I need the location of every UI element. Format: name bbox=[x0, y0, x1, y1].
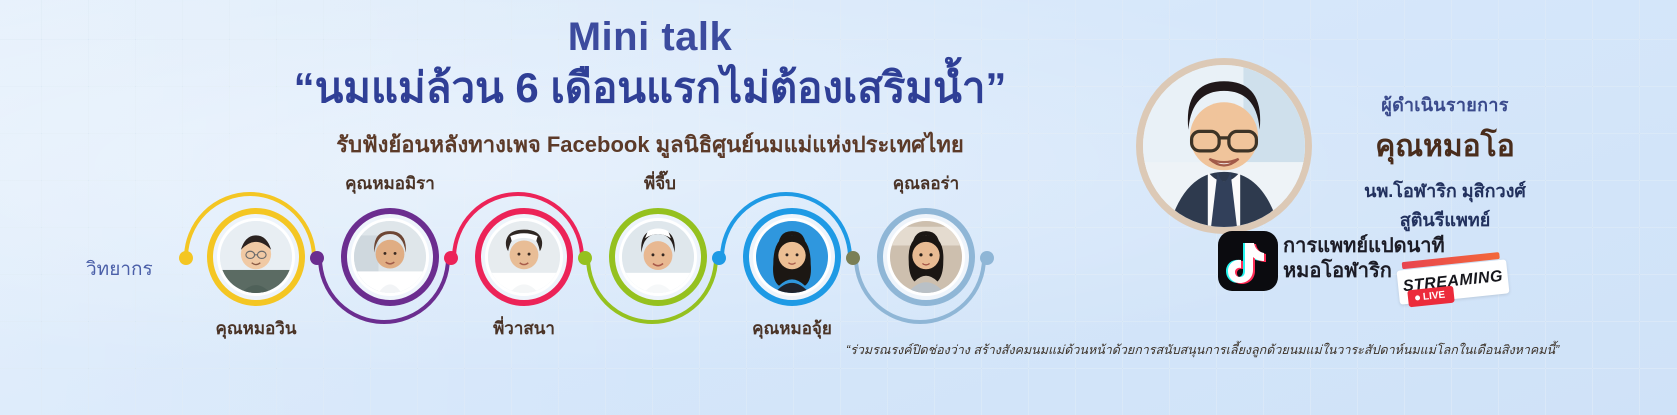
speaker-photo-6 bbox=[890, 221, 962, 293]
speaker-photo-5 bbox=[756, 221, 828, 293]
live-badge-label: LIVE bbox=[1422, 290, 1445, 303]
speaker-avatar-2[interactable] bbox=[341, 208, 439, 306]
speaker-avatar-5[interactable] bbox=[743, 208, 841, 306]
speaker-name-3: พี่วาสนา bbox=[464, 315, 584, 342]
speaker-name-6: คุณลอร่า bbox=[866, 170, 986, 197]
speaker-photo-1 bbox=[220, 221, 292, 293]
headline-block: Mini talk “นมแม่ล้วน 6 เดือนแรกไม่ต้องเส… bbox=[150, 16, 1150, 162]
speaker-photo-2 bbox=[354, 221, 426, 293]
speaker-avatar-6[interactable] bbox=[877, 208, 975, 306]
tiktok-icon[interactable] bbox=[1218, 231, 1278, 291]
speaker-avatar-1[interactable] bbox=[207, 208, 305, 306]
headline-subtitle: รับฟังย้อนหลังทางเพจ Facebook มูลนิธิศูน… bbox=[150, 127, 1150, 162]
speaker-avatar-4[interactable] bbox=[609, 208, 707, 306]
promotional-banner: Mini talk “นมแม่ล้วน 6 เดือนแรกไม่ต้องเส… bbox=[0, 0, 1677, 415]
live-dot-icon bbox=[1415, 295, 1420, 300]
mini-talk-title: Mini talk bbox=[150, 16, 1150, 58]
host-info: ผู้ดำเนินรายการ คุณหมอโอ นพ.โอฬาริก มุสิ… bbox=[1330, 90, 1560, 234]
speaker-photo-4 bbox=[622, 221, 694, 293]
host-role-label: ผู้ดำเนินรายการ bbox=[1330, 90, 1560, 119]
speakers-timeline: วิทยากร bbox=[0, 175, 1060, 355]
headline-quote: “นมแม่ล้วน 6 เดือนแรกไม่ต้องเสริมน้ำ” bbox=[150, 62, 1150, 115]
footer-note: “ร่วมรณรงค์ปิดช่องว่าง สร้างสังคมนมแม่ด้… bbox=[846, 340, 1559, 360]
host-photo bbox=[1143, 65, 1305, 227]
speaker-name-2: คุณหมอมิรา bbox=[325, 170, 455, 197]
speaker-avatar-3[interactable] bbox=[475, 208, 573, 306]
host-full-name: นพ.โอฬาริก มุสิกวงศ์ bbox=[1330, 176, 1560, 205]
live-badge: LIVE bbox=[1407, 286, 1455, 308]
host-avatar[interactable] bbox=[1136, 58, 1312, 234]
host-nickname: คุณหมอโอ bbox=[1330, 123, 1560, 170]
channel-title-line1: การแพทย์แปดนาที bbox=[1283, 234, 1445, 259]
speaker-name-5: คุณหมอจุ้ย bbox=[732, 315, 852, 342]
speaker-name-4: พี่จี๊บ bbox=[600, 170, 720, 197]
host-specialty: สูตินรีแพทย์ bbox=[1330, 205, 1560, 234]
speaker-name-1: คุณหมอวิน bbox=[196, 315, 316, 342]
speaker-photo-3 bbox=[488, 221, 560, 293]
